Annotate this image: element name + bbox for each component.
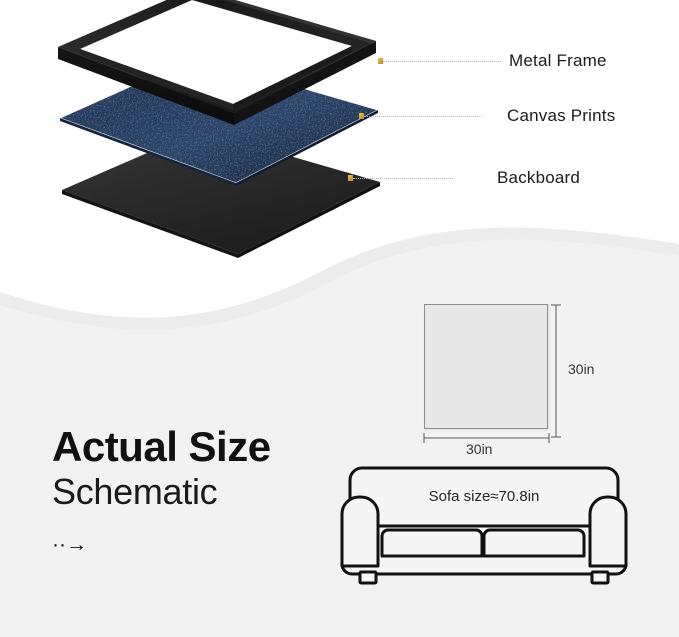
callout-leader-line — [353, 178, 453, 179]
sofa-arm-left — [342, 497, 378, 566]
callout-label-metal-frame: Metal Frame — [509, 51, 607, 71]
sofa-illustration — [336, 458, 632, 595]
callout-canvas-prints: Canvas Prints — [359, 107, 615, 125]
dimension-line-vertical — [551, 305, 561, 437]
callout-backboard: Backboard — [348, 169, 580, 187]
sofa-cushion-left — [382, 530, 482, 556]
callout-label-backboard: Backboard — [497, 168, 580, 188]
sofa-cushion-right — [484, 530, 584, 556]
heading-line-primary: Actual Size — [52, 425, 332, 469]
dimension-label-height: 30in — [568, 361, 594, 377]
exploded-product-illustration — [0, 0, 400, 270]
callout-leader-line — [383, 61, 501, 62]
dimension-label-width: 30in — [466, 441, 492, 457]
callout-label-canvas-prints: Canvas Prints — [507, 106, 615, 126]
callout-metal-frame: Metal Frame — [378, 52, 607, 70]
sofa-leg-left — [360, 572, 376, 583]
heading-line-secondary: Schematic — [52, 471, 332, 512]
dimension-lines — [400, 290, 630, 460]
product-infographic: Metal Frame Canvas Prints Backboard Actu… — [0, 0, 679, 637]
sofa-arm-right — [590, 497, 626, 566]
callout-leader-line — [364, 116, 482, 117]
sofa-size-label: Sofa size≈70.8in — [336, 488, 632, 505]
dotted-arrow-icon: ··→ — [52, 534, 332, 555]
sofa-leg-right — [592, 572, 608, 583]
actual-size-heading: Actual Size Schematic ··→ — [52, 425, 332, 555]
